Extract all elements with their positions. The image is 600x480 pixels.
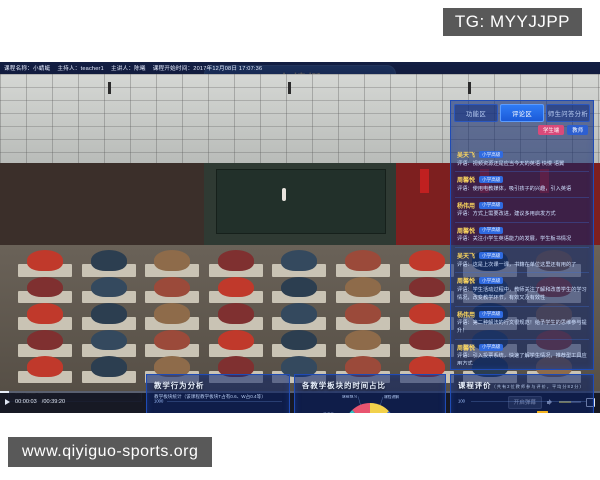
comment-item[interactable]: 吴天飞小学高级评语：视频资源还是应当今天的英语·快慢·语翼 — [455, 147, 589, 172]
whiteboard — [216, 169, 386, 234]
pie-slice-label: 课前预习 — [342, 395, 357, 398]
bar — [537, 411, 548, 413]
student-figure — [154, 250, 190, 271]
y-tick-label: 1000 — [154, 399, 163, 404]
student-figure — [91, 303, 127, 324]
ceiling-lamp — [468, 82, 471, 94]
comment-header: 吴天飞小学高级 — [457, 251, 587, 260]
y-tick-label: 750 — [154, 412, 161, 413]
student-figure — [91, 356, 127, 377]
course-evaluation-panel: 课程评价（共有2位教师参与评价，平均分82分） 0255075100 教学设计(… — [450, 374, 594, 413]
comment-author: 周馨悦 — [457, 343, 475, 352]
meta-speaker: 主讲人：陈曦 — [111, 64, 146, 72]
student-figure — [218, 330, 254, 351]
watermark-bottom: www.qiyiguo-sports.org — [8, 437, 212, 467]
bar-group — [204, 401, 213, 413]
student-figure — [154, 303, 190, 324]
ceiling-lamp — [288, 82, 291, 94]
comment-badge: 小学高级 — [479, 176, 503, 183]
bar-group — [172, 401, 181, 413]
role-chip[interactable]: 学生端 — [538, 125, 564, 135]
comment-item[interactable]: 杨伟用小学高级评语：方式上需要改进，建议多用启发方式 — [455, 198, 589, 223]
comment-item[interactable]: 杨伟用小学高级评语：第二种解法的行文很规范！给予学生的思维参与提升！ — [455, 307, 589, 340]
comments-tabs[interactable]: 功能区评论区师生问答分析 — [454, 104, 590, 122]
student-figure — [27, 303, 63, 324]
comment-header: 周馨悦小学高级 — [457, 276, 587, 285]
comment-text: 评语：第二种解法的行文很规范！给予学生的思维参与提升！ — [457, 320, 587, 336]
course-evaluation-bar-chart: 0255075100 — [458, 401, 586, 413]
meta-host: 主持人：teacher1 — [57, 64, 104, 72]
student-figure — [345, 330, 381, 351]
comment-header: 杨伟用小学高级 — [457, 310, 587, 319]
ceiling-lamp — [108, 82, 111, 94]
student-figure — [409, 250, 445, 271]
comment-badge: 小学高级 — [479, 252, 503, 259]
bar-group — [252, 401, 261, 413]
comments-tab-1[interactable]: 评论区 — [500, 104, 544, 122]
current-time: 00:00:03 — [15, 399, 37, 405]
student-figure — [218, 303, 254, 324]
teacher-figure — [282, 188, 286, 201]
pie-slice-label: 课程讲解 — [384, 395, 399, 399]
comment-text: 评语：学生活动过程中，教师关注了解和改善学生的学习情况，改变教学环节，有效又及有… — [457, 287, 587, 303]
comment-text: 评语：这是上次课一课，书籍在单位这里还有用的了 — [457, 262, 587, 270]
bar-group — [267, 401, 276, 413]
pie-title: 各教学板块的时间占比 — [302, 380, 445, 391]
comment-item[interactable]: 周馨悦小学高级评语：使用电教媒体，吸引孩子的兴趣，引入英语 — [455, 172, 589, 197]
comment-badge: 小学高级 — [479, 311, 503, 318]
student-figure — [281, 250, 317, 271]
student-figure — [281, 277, 317, 298]
student-figure — [27, 250, 63, 271]
dashboard: 小蜻蜓 教学诊断 S－T量表分析 ST S－T量表分析(Rt-Ch图) ChRt… — [0, 62, 600, 413]
video-meta-bar: 课程名称：小蜻蜓 主持人：teacher1 主讲人：陈曦 课程开始时间：2017… — [0, 62, 600, 74]
student-figure — [409, 303, 445, 324]
behavior-subtitle: 教学板块统计（该课程教学板块T占有0.6、W占0.4等） — [154, 394, 289, 400]
play-icon[interactable] — [5, 399, 10, 405]
bar-container — [473, 401, 584, 413]
watermark-top: TG: MYYJJPP — [443, 8, 582, 36]
comments-role-chips[interactable]: 学生端教师 — [451, 125, 588, 135]
screenshot-root: TG: MYYJJPP www.qiyiguo-sports.org 小蜻蜓 教… — [0, 0, 600, 480]
comments-list[interactable]: 吴天飞小学高级评语：视频资源还是应当今天的英语·快慢·语翼周馨悦小学高级评语：使… — [455, 147, 589, 365]
bar-group — [220, 401, 229, 413]
student-figure — [154, 330, 190, 351]
student-figure — [154, 277, 190, 298]
pie-slice-label: 情境导入 — [323, 412, 338, 413]
comment-author: 吴天飞 — [457, 251, 475, 260]
comment-author: 杨伟用 — [457, 310, 475, 319]
meta-course: 课程名称：小蜻蜓 — [4, 64, 50, 72]
eval-title: 课程评价（共有2位教师参与评价，平均分82分） — [458, 380, 593, 391]
module-time-pie-chart: 课程讲解活动动手操作总结提升自主学习交流展示情境导入课前预习 — [300, 395, 440, 413]
comment-author: 吴天飞 — [457, 150, 475, 159]
student-figure — [27, 277, 63, 298]
comment-author: 周馨悦 — [457, 276, 475, 285]
comment-author: 杨伟用 — [457, 201, 475, 210]
meta-start-time: 课程开始时间：2017年12月08日 17:07:36 — [153, 64, 263, 72]
student-figure — [27, 330, 63, 351]
behavior-title: 教学行为分析 — [154, 380, 289, 391]
total-time: /00:39:20 — [42, 399, 65, 405]
student-figure — [27, 356, 63, 377]
comment-header: 周馨悦小学高级 — [457, 226, 587, 235]
student-figure — [345, 250, 381, 271]
student-figure — [218, 250, 254, 271]
module-time-panel: 各教学板块的时间占比 课程讲解活动动手操作总结提升自主学习交流展示情境导入课前预… — [294, 374, 446, 413]
comments-tab-0[interactable]: 功能区 — [454, 104, 498, 122]
y-tick-label: 75 — [458, 412, 463, 413]
student-figure — [281, 330, 317, 351]
behavior-analysis-panel: 教学行为分析 教学板块统计（该课程教学板块T占有0.6、W占0.4等） 0250… — [146, 374, 290, 413]
student-figure — [91, 250, 127, 271]
student-figure — [281, 303, 317, 324]
comment-badge: 小学高级 — [479, 202, 503, 209]
comment-item[interactable]: 周馨悦小学高级评语：引入投票系统，快速了解学生情况，推荐型工具应用方式 — [455, 340, 589, 365]
student-figure — [91, 277, 127, 298]
comment-author: 周馨悦 — [457, 175, 475, 184]
comment-header: 周馨悦小学高级 — [457, 343, 587, 352]
y-tick-label: 100 — [458, 399, 465, 404]
comment-text: 评语：使用电教媒体，吸引孩子的兴趣，引入英语 — [457, 186, 587, 194]
comment-header: 杨伟用小学高级 — [457, 201, 587, 210]
comment-header: 周馨悦小学高级 — [457, 175, 587, 184]
red-banner — [420, 169, 429, 193]
role-chip[interactable]: 教师 — [567, 125, 588, 135]
comment-item[interactable]: 吴天飞小学高级评语：这是上次课一课，书籍在单位这里还有用的了 — [455, 248, 589, 273]
comment-badge: 小学高级 — [479, 151, 503, 158]
comment-text: 评语：引入投票系统，快速了解学生情况，推荐型工具应用方式 — [457, 353, 587, 365]
student-figure — [345, 277, 381, 298]
student-figure — [409, 330, 445, 351]
bar-group — [236, 401, 245, 413]
comment-badge: 小学高级 — [479, 344, 503, 351]
student-figure — [409, 277, 445, 298]
comment-text: 评语：关注小学生英语能力的发展，学生板书情况 — [457, 236, 587, 244]
comment-text: 评语：视频资源还是应当今天的英语·快慢·语翼 — [457, 161, 587, 169]
student-figure — [218, 277, 254, 298]
classroom-wall-left — [0, 163, 204, 245]
comments-tab-2[interactable]: 师生问答分析 — [546, 104, 590, 122]
comment-item[interactable]: 周馨悦小学高级评语：关注小学生英语能力的发展，学生板书情况 — [455, 223, 589, 248]
bar-group-container — [169, 401, 280, 413]
comment-badge: 小学高级 — [479, 227, 503, 234]
student-figure — [345, 303, 381, 324]
comment-badge: 小学高级 — [479, 277, 503, 284]
comment-text: 评语：方式上需要改进，建议多用启发方式 — [457, 211, 587, 219]
comment-author: 周馨悦 — [457, 226, 475, 235]
comment-header: 吴天飞小学高级 — [457, 150, 587, 159]
student-figure — [91, 330, 127, 351]
behavior-bar-chart: 02505007501000 — [154, 401, 282, 413]
comment-item[interactable]: 周馨悦小学高级评语：学生活动过程中，教师关注了解和改善学生的学习情况，改变教学环… — [455, 273, 589, 306]
bar-group — [188, 401, 197, 413]
video-player[interactable]: 课程名称：小蜻蜓 主持人：teacher1 主讲人：陈曦 课程开始时间：2017… — [0, 62, 300, 332]
comments-panel: 功能区评论区师生问答分析 学生端教师 吴天飞小学高级评语：视频资源还是应当今天的… — [450, 100, 594, 370]
